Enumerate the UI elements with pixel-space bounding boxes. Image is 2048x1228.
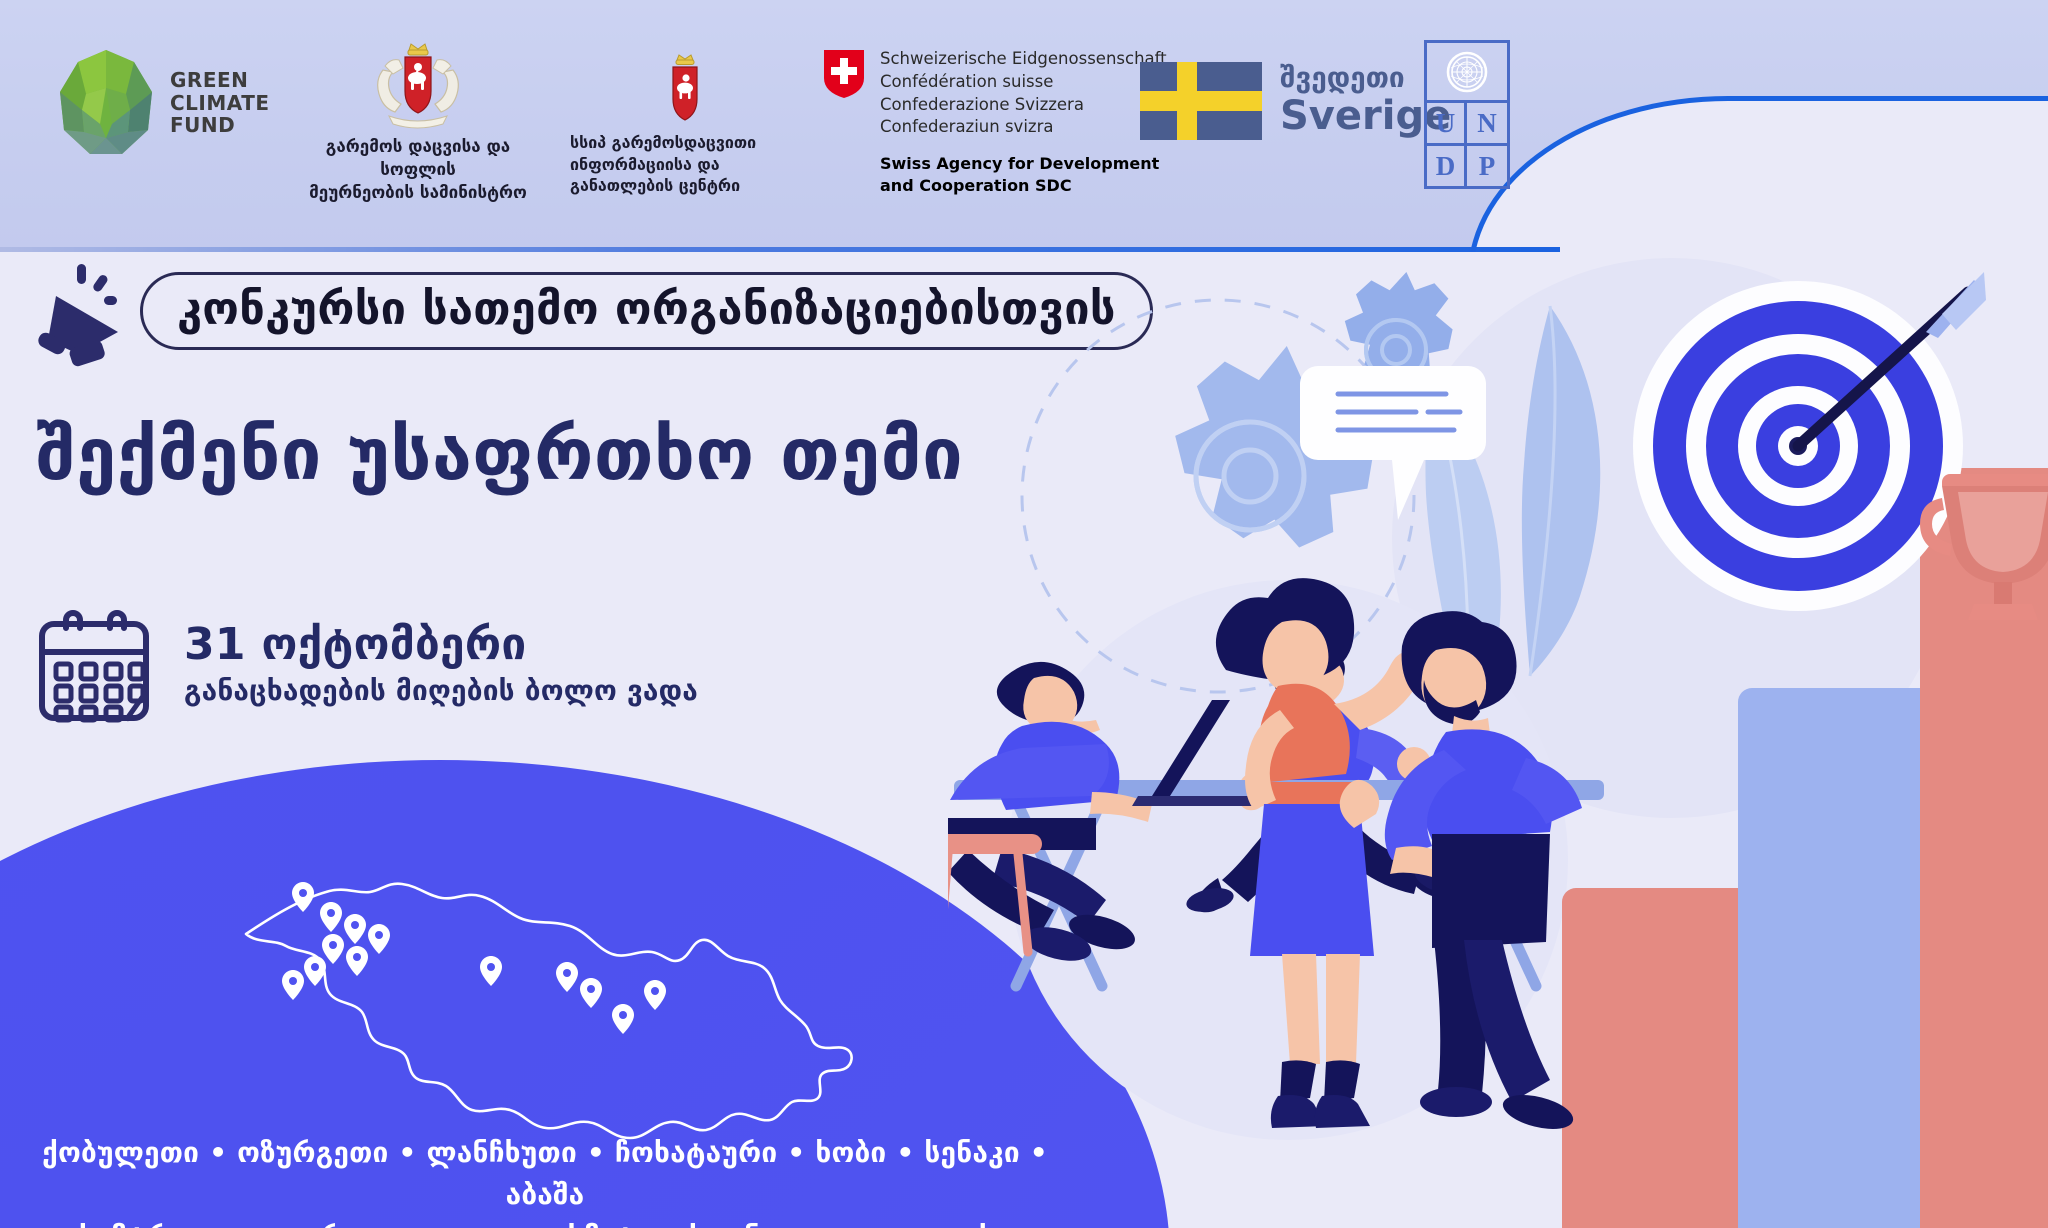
partner-logos: GREEN CLIMATE FUND <box>0 0 2048 248</box>
location-pin-icon <box>292 882 314 912</box>
georgia-shield-icon <box>657 52 713 124</box>
megaphone-icon <box>26 258 158 370</box>
undp-letter-d: D <box>1427 146 1467 186</box>
calendar-icon <box>30 608 158 724</box>
location-pin-icon <box>282 970 304 1000</box>
logo-green-climate-fund: GREEN CLIMATE FUND <box>56 48 270 158</box>
location-pin-icon <box>344 914 366 944</box>
location-pin-icon <box>304 956 326 986</box>
page-title: შექმენი უსაფრთხო თემი <box>36 412 963 496</box>
location-pin-icon <box>320 902 342 932</box>
undp-letter-p: P <box>1467 146 1507 186</box>
location-pin-icon <box>346 946 368 976</box>
deadline-date: 31 ოქტომბერი <box>184 622 698 668</box>
bearded-man-figure <box>1362 590 1722 1150</box>
bar-step-2 <box>1738 688 1934 1228</box>
location-pin-icon <box>480 956 502 986</box>
green-gem-icon <box>56 48 156 158</box>
logo-sweden: შვედეთი Sverige <box>1140 62 1451 140</box>
logo-undp: U N D P <box>1424 40 1510 189</box>
logo-swiss-agency-name: Swiss Agency for Development and Coopera… <box>880 153 1167 196</box>
illustration-group <box>948 250 2048 1228</box>
speech-bubble-icon <box>1298 350 1498 530</box>
swedish-flag-icon <box>1140 62 1262 140</box>
locations-list: ქობულეთი • ოზურგეთი • ლანჩხუთი • ჩოხატაუ… <box>0 1132 1090 1228</box>
logo-swiss-languages: Schweizerische Eidgenossenschaft Confédé… <box>880 48 1167 139</box>
location-pin-icon <box>368 924 390 954</box>
location-pin-icon <box>612 1004 634 1034</box>
deadline-note: განაცხადების მიღების ბოლო ვადა <box>184 674 698 707</box>
trophy-icon <box>1914 458 2048 638</box>
georgia-coat-of-arms-icon <box>363 40 473 128</box>
georgia-outline-map <box>240 830 860 1160</box>
locations-line-2: სამტრედია • გორი • თელავი • ახმეტა • სიღ… <box>0 1216 1090 1228</box>
logo-swiss-sdc: Schweizerische Eidgenossenschaft Confédé… <box>822 48 1167 196</box>
logo-eiec: სსიპ გარემოსდაცვითი ინფორმაციისა და განა… <box>570 52 800 197</box>
location-pin-icon <box>580 978 602 1008</box>
un-emblem-icon <box>1427 43 1507 103</box>
undp-letter-n: N <box>1467 103 1507 143</box>
logo-ministry-text: გარემოს დაცვისა და სოფლის მეურნეობის სამ… <box>288 136 548 205</box>
locations-line-1: ქობულეთი • ოზურგეთი • ლანჩხუთი • ჩოხატაუ… <box>0 1132 1090 1216</box>
undp-letter-u: U <box>1427 103 1467 143</box>
map-pins <box>240 830 860 1160</box>
location-pin-icon <box>644 980 666 1010</box>
poster-canvas: GREEN CLIMATE FUND <box>0 0 2048 1228</box>
deadline-block: 31 ოქტომბერი განაცხადების მიღების ბოლო ვ… <box>30 608 698 724</box>
logo-eiec-text: სსიპ გარემოსდაცვითი ინფორმაციისა და განა… <box>570 132 756 197</box>
logo-gcf-text: GREEN CLIMATE FUND <box>170 69 270 136</box>
swiss-shield-icon <box>822 48 866 100</box>
logo-georgia-ministry: გარემოს დაცვისა და სოფლის მეურნეობის სამ… <box>288 40 548 205</box>
location-pin-icon <box>556 962 578 992</box>
